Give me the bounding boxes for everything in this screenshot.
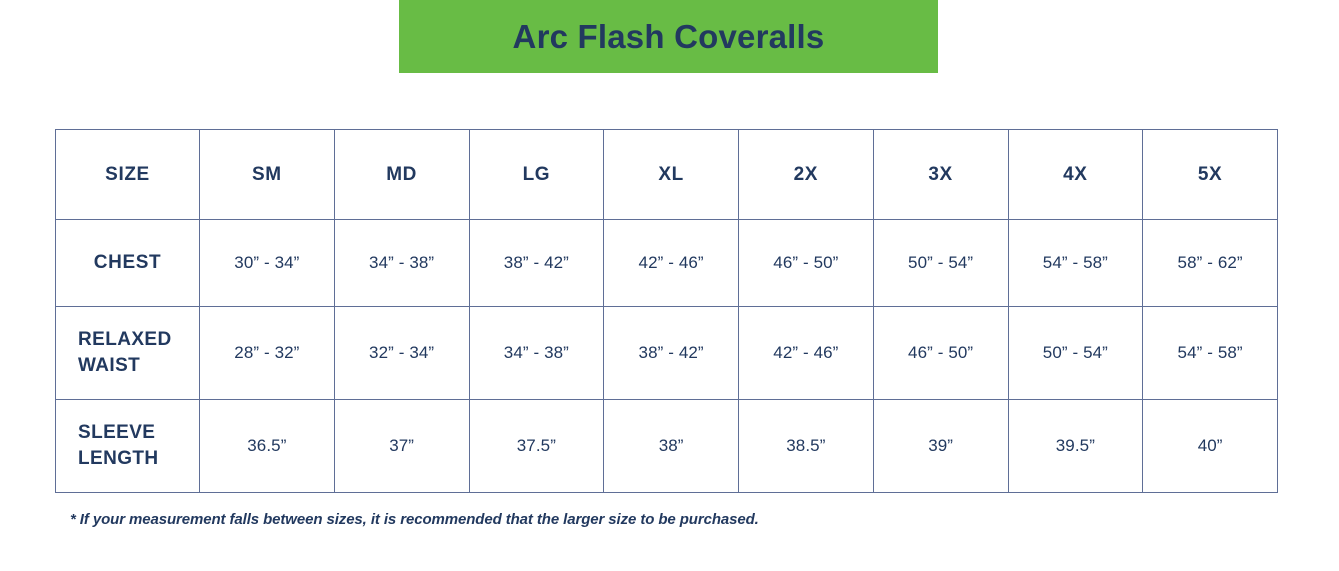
cell-chest-3x: 50” - 54” xyxy=(873,220,1008,307)
cell-chest-2x: 46” - 50” xyxy=(739,220,874,307)
row-label-line2: LENGTH xyxy=(78,448,159,469)
size-chart-table: SIZE SM MD LG XL 2X 3X 4X 5X CHEST 30” -… xyxy=(55,129,1278,493)
cell-sleeve-4x: 39.5” xyxy=(1008,400,1143,493)
cell-waist-3x: 46” - 50” xyxy=(873,307,1008,400)
row-label-line1: SLEEVE xyxy=(78,422,155,443)
header-cell-md: MD xyxy=(334,130,469,220)
cell-waist-xl: 38” - 42” xyxy=(604,307,739,400)
row-label-sleeve-length: SLEEVE LENGTH xyxy=(56,400,200,493)
table-header-row: SIZE SM MD LG XL 2X 3X 4X 5X xyxy=(56,130,1278,220)
header-cell-sm: SM xyxy=(200,130,335,220)
cell-sleeve-5x: 40” xyxy=(1143,400,1278,493)
header-cell-size: SIZE xyxy=(56,130,200,220)
row-label-chest: CHEST xyxy=(56,220,200,307)
page-title: Arc Flash Coveralls xyxy=(513,20,825,53)
cell-sleeve-2x: 38.5” xyxy=(739,400,874,493)
header-cell-3x: 3X xyxy=(873,130,1008,220)
cell-waist-md: 32” - 34” xyxy=(334,307,469,400)
cell-sleeve-xl: 38” xyxy=(604,400,739,493)
header-cell-lg: LG xyxy=(469,130,604,220)
header-cell-xl: XL xyxy=(604,130,739,220)
row-label-line1: RELAXED xyxy=(78,329,172,350)
cell-chest-4x: 54” - 58” xyxy=(1008,220,1143,307)
cell-sleeve-lg: 37.5” xyxy=(469,400,604,493)
header-cell-4x: 4X xyxy=(1008,130,1143,220)
page-title-banner: Arc Flash Coveralls xyxy=(399,0,938,73)
row-label-line2: WAIST xyxy=(78,355,140,376)
header-cell-5x: 5X xyxy=(1143,130,1278,220)
cell-chest-md: 34” - 38” xyxy=(334,220,469,307)
cell-waist-2x: 42” - 46” xyxy=(739,307,874,400)
table-row-sleeve-length: SLEEVE LENGTH 36.5” 37” 37.5” 38” 38.5” … xyxy=(56,400,1278,493)
cell-chest-5x: 58” - 62” xyxy=(1143,220,1278,307)
table-row-relaxed-waist: RELAXED WAIST 28” - 32” 32” - 34” 34” - … xyxy=(56,307,1278,400)
cell-chest-lg: 38” - 42” xyxy=(469,220,604,307)
cell-waist-sm: 28” - 32” xyxy=(200,307,335,400)
table-row-chest: CHEST 30” - 34” 34” - 38” 38” - 42” 42” … xyxy=(56,220,1278,307)
cell-sleeve-sm: 36.5” xyxy=(200,400,335,493)
header-cell-2x: 2X xyxy=(739,130,874,220)
cell-sleeve-3x: 39” xyxy=(873,400,1008,493)
row-label-relaxed-waist: RELAXED WAIST xyxy=(56,307,200,400)
cell-sleeve-md: 37” xyxy=(334,400,469,493)
footnote-text: * If your measurement falls between size… xyxy=(70,511,759,528)
cell-waist-lg: 34” - 38” xyxy=(469,307,604,400)
cell-chest-sm: 30” - 34” xyxy=(200,220,335,307)
cell-waist-4x: 50” - 54” xyxy=(1008,307,1143,400)
cell-chest-xl: 42” - 46” xyxy=(604,220,739,307)
cell-waist-5x: 54” - 58” xyxy=(1143,307,1278,400)
